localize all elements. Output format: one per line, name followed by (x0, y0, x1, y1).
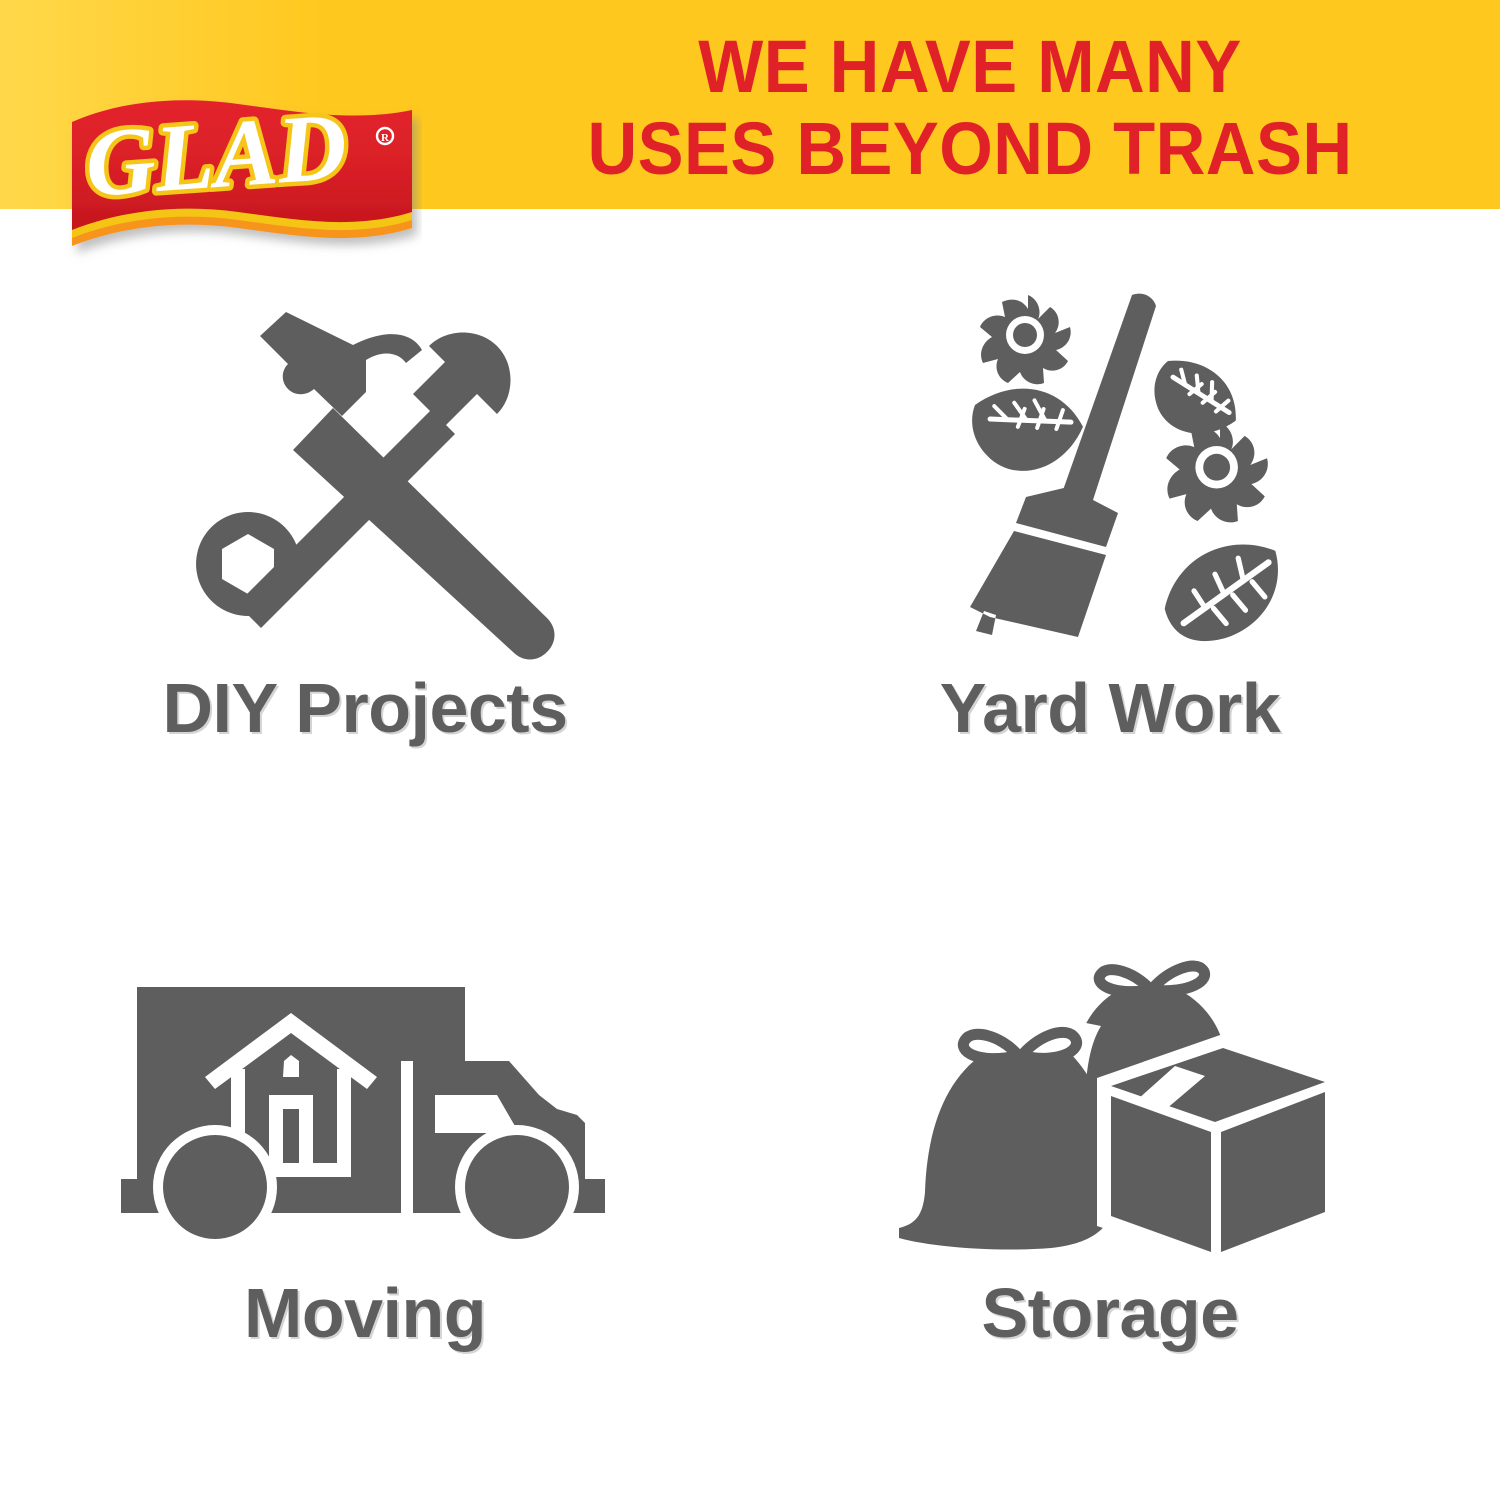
logo-wordmark: GLAD GLAD (82, 96, 350, 217)
use-case-yard-work: Yard Work (790, 265, 1430, 785)
svg-text:GLAD: GLAD (82, 96, 350, 217)
broom-leaves-flowers-icon (790, 265, 1430, 655)
hammer-wrench-icon (45, 285, 685, 675)
svg-text:R: R (381, 132, 390, 144)
use-case-moving: Moving (45, 920, 685, 1440)
use-case-label-yard: Yard Work (790, 670, 1430, 746)
moving-truck-icon (45, 920, 685, 1310)
use-case-label-moving: Moving (45, 1275, 685, 1351)
use-case-label-storage: Storage (790, 1275, 1430, 1351)
use-case-diy-projects: DIY Projects (45, 285, 685, 805)
page-headline: WE HAVE MANY USES BEYOND TRASH (533, 26, 1407, 190)
trash-bags-box-icon (790, 900, 1430, 1290)
glad-brand-logo: GLAD GLAD R (62, 96, 422, 271)
use-case-storage: Storage (790, 900, 1430, 1420)
headline-line-1: WE HAVE MANY (533, 26, 1407, 108)
headline-line-2: USES BEYOND TRASH (533, 108, 1407, 190)
use-case-label-diy: DIY Projects (45, 670, 685, 746)
